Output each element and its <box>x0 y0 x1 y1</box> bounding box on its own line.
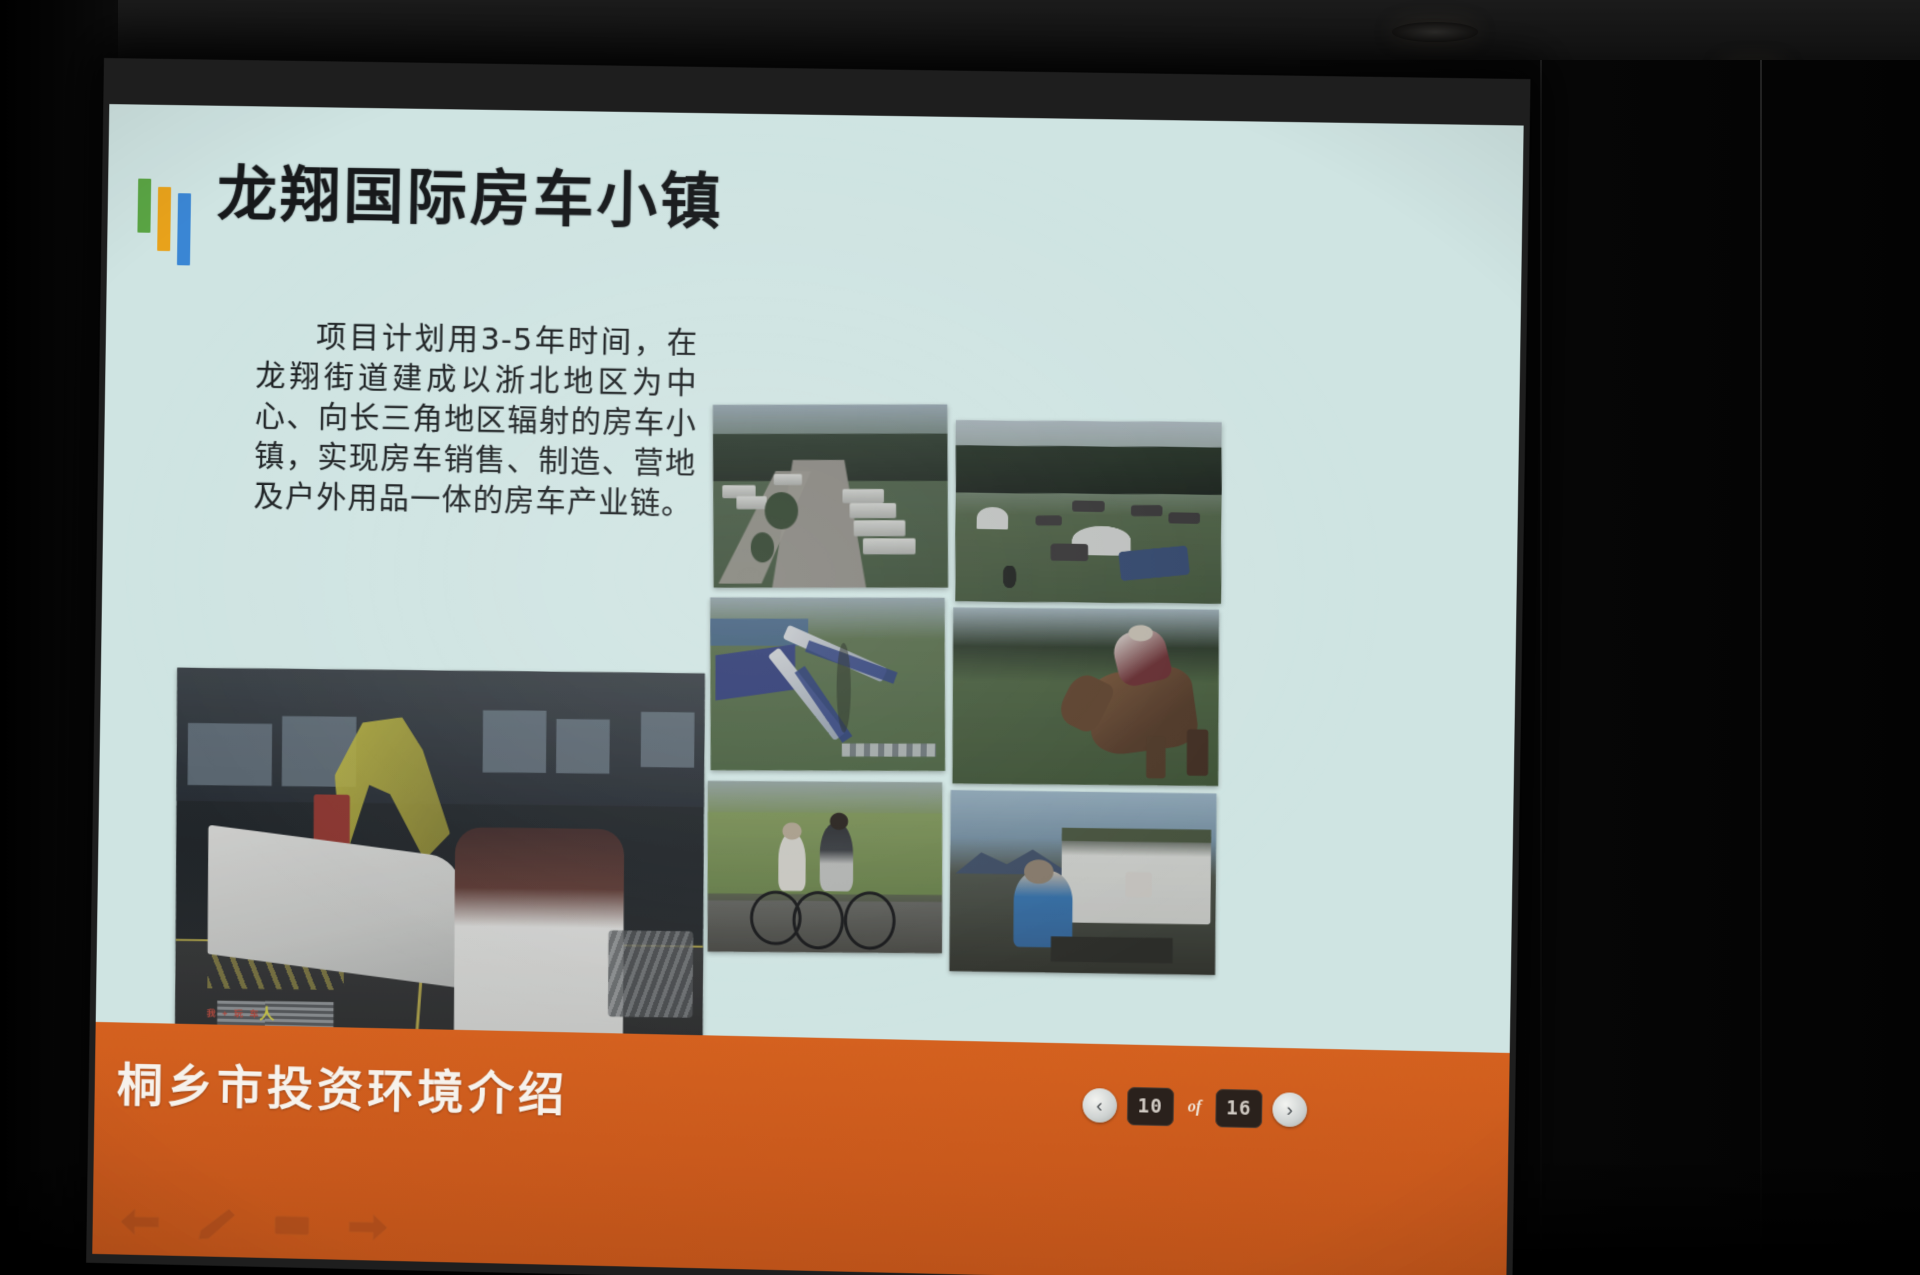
slide-title: 龙翔国际房车小镇 <box>217 164 725 236</box>
wall-seam <box>1760 60 1762 1275</box>
accent-bars-icon <box>137 177 191 266</box>
yellow-bar <box>157 187 171 251</box>
footer-title: 桐乡市投资环境介绍 <box>116 1048 568 1124</box>
presentation-slide[interactable]: 龙翔国际房车小镇 项目计划用3-5年时间，在龙翔街道建成以浙北地区为中心、向长三… <box>92 104 1523 1275</box>
pen-icon[interactable] <box>195 1206 238 1241</box>
couple-cycling-photo <box>708 781 943 954</box>
rv-camp-picnic-photo <box>949 790 1216 975</box>
page-indicator[interactable]: ‹ 10 of 16 › <box>1082 1086 1307 1129</box>
green-bar <box>137 179 151 233</box>
current-page-box: 10 <box>1127 1087 1174 1126</box>
factory-watermark: 我 + 玩 车 <box>207 1006 261 1020</box>
ceiling-light-icon <box>1392 22 1478 42</box>
arrow-right-icon[interactable] <box>347 1210 390 1245</box>
arrow-left-icon[interactable] <box>118 1204 161 1239</box>
factory-watermark-mark: 人 <box>259 1003 274 1024</box>
auditorium-room: 龙翔国际房车小镇 项目计划用3-5年时间，在龙翔街道建成以浙北地区为中心、向长三… <box>0 0 1920 1275</box>
slide-nav-toolbar[interactable] <box>118 1204 389 1244</box>
blue-bar <box>177 193 191 265</box>
water-slide-park-photo <box>710 597 945 770</box>
page-separator-label: of <box>1184 1098 1206 1117</box>
rv-camping-field-photo <box>955 420 1222 603</box>
slide-body-text: 项目计划用3-5年时间，在龙翔街道建成以浙北地区为中心、向长三角地区辐射的房车小… <box>253 317 698 525</box>
rv-factory-assembly-line-photo: 我 + 玩 车 人 房车网 <box>175 668 705 1065</box>
next-page-button[interactable]: › <box>1272 1092 1307 1127</box>
wall-seam <box>1540 60 1542 1275</box>
total-pages-box: 16 <box>1215 1089 1262 1128</box>
slide-footer: 桐乡市投资环境介绍 ‹ 10 of 16 › <box>92 1022 1509 1275</box>
slide-header: 龙翔国际房车小镇 <box>137 163 724 275</box>
horse-riding-photo <box>952 607 1219 786</box>
rectangle-icon[interactable] <box>271 1208 314 1243</box>
rv-campground-road-photo <box>713 404 948 587</box>
projection-screen: 龙翔国际房车小镇 项目计划用3-5年时间，在龙翔街道建成以浙北地区为中心、向长三… <box>86 58 1530 1275</box>
prev-page-button[interactable]: ‹ <box>1082 1088 1117 1123</box>
